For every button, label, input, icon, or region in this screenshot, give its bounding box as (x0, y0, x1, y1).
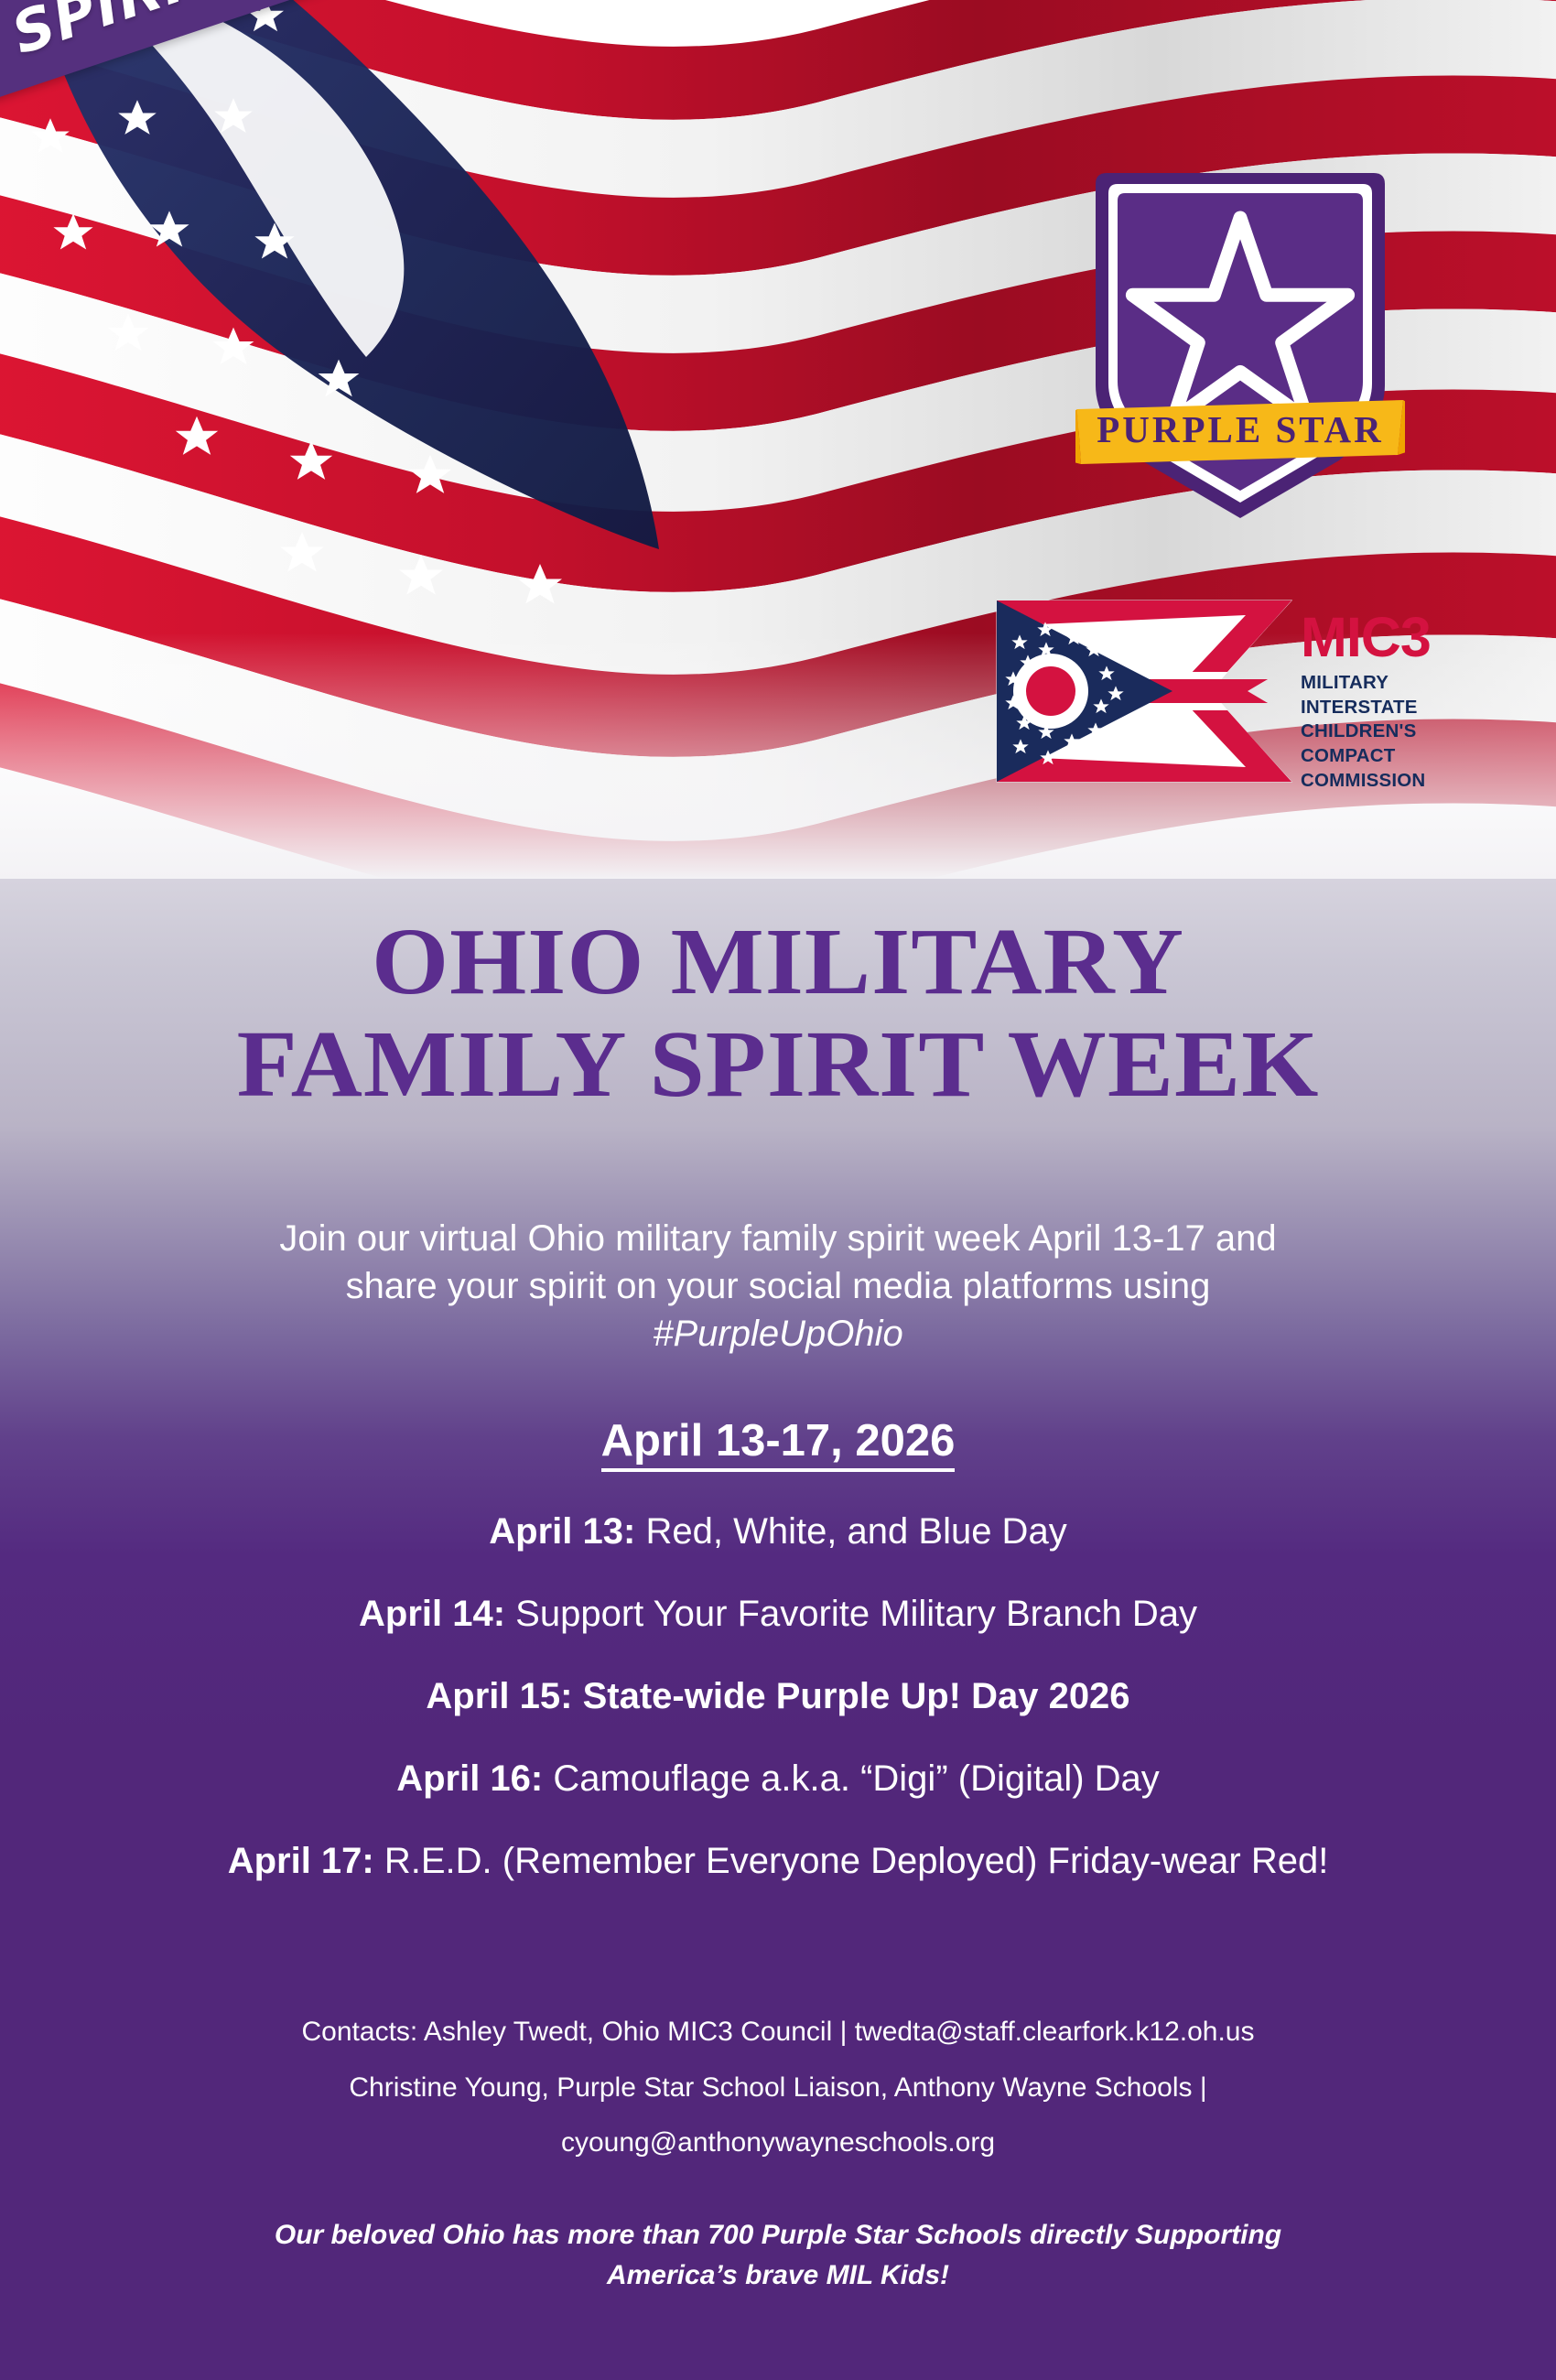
spirit-day-row: April 17: R.E.D. (Remember Everyone Depl… (64, 1840, 1492, 1882)
mic3-subtitle-line-3: COMMISSION (1301, 769, 1506, 794)
ohio-flag-icon (993, 595, 1295, 787)
mic3-subtitle-line-1: MILITARY INTERSTATE (1301, 671, 1506, 719)
purple-star-ribbon-label: PURPLE STAR (1097, 408, 1384, 450)
mic3-acronym: MIC3 (1301, 611, 1506, 665)
spirit-day-row: April 15: State-wide Purple Up! Day 2026 (64, 1675, 1492, 1717)
spirit-day-text: Red, White, and Blue Day (635, 1511, 1066, 1552)
mic3-subtitle-line-2: CHILDREN'S COMPACT (1301, 719, 1506, 768)
spirit-day-text: Camouflage a.k.a. “Digi” (Digital) Day (543, 1758, 1160, 1799)
mic3-logo: MIC3 MILITARY INTERSTATE CHILDREN'S COMP… (993, 595, 1506, 787)
contact-line-1: Contacts: Ashley Twedt, Ohio MIC3 Counci… (110, 2011, 1446, 2054)
intro-line-1: Join our virtual Ohio military family sp… (279, 1218, 1276, 1259)
spirit-day-label: April 17: (228, 1841, 374, 1881)
spirit-day-row: April 14: Support Your Favorite Military… (64, 1593, 1492, 1635)
purple-star-logo: PURPLE STAR (1075, 169, 1405, 522)
mic3-wordmark: MIC3 MILITARY INTERSTATE CHILDREN'S COMP… (1301, 611, 1506, 793)
tagline-line-2: America’s brave MIL Kids! (110, 2256, 1446, 2296)
intro-line-2: share your spirit on your social media p… (346, 1266, 1211, 1306)
purple-star-shield-icon: PURPLE STAR (1075, 169, 1405, 522)
spirit-day-label: April 13: (489, 1511, 635, 1552)
spirit-day-label: April 14: (359, 1594, 505, 1634)
spirit-day-text: Support Your Favorite Military Branch Da… (505, 1594, 1197, 1634)
date-range-heading-text: April 13-17, 2026 (601, 1416, 956, 1472)
title-line-1: OHIO MILITARY (0, 911, 1556, 1013)
intro-paragraph: Join our virtual Ohio military family sp… (128, 1215, 1428, 1358)
contact-line-2: Christine Young, Purple Star School Liai… (110, 2067, 1446, 2110)
date-range-heading: April 13-17, 2026 (0, 1415, 1556, 1466)
spirit-day-label: April 16: (396, 1758, 543, 1799)
tagline-block: Our beloved Ohio has more than 700 Purpl… (110, 2215, 1446, 2295)
tagline-line-1: Our beloved Ohio has more than 700 Purpl… (110, 2215, 1446, 2256)
spirit-day-text: State-wide Purple Up! Day 2026 (572, 1676, 1129, 1716)
mic3-subtitle: MILITARY INTERSTATE CHILDREN'S COMPACT C… (1301, 671, 1506, 793)
spirit-day-label: April 15: (426, 1676, 572, 1716)
page-title: OHIO MILITARY FAMILY SPIRIT WEEK (0, 911, 1556, 1117)
spirit-day-text: R.E.D. (Remember Everyone Deployed) Frid… (374, 1841, 1329, 1881)
hashtag: #PurpleUpOhio (128, 1310, 1428, 1358)
contact-line-3: cyoung@anthonywayneschools.org (110, 2122, 1446, 2165)
spirit-day-list: April 13: Red, White, and Blue Day April… (64, 1510, 1492, 1922)
spirit-day-row: April 16: Camouflage a.k.a. “Digi” (Digi… (64, 1758, 1492, 1800)
poster-root: SPIRIT WEEK '26 PURPLE STAR (0, 0, 1556, 2380)
contacts-block: Contacts: Ashley Twedt, Ohio MIC3 Counci… (110, 2011, 1446, 2178)
spirit-day-row: April 13: Red, White, and Blue Day (64, 1510, 1492, 1552)
title-line-2: FAMILY SPIRIT WEEK (0, 1013, 1556, 1116)
